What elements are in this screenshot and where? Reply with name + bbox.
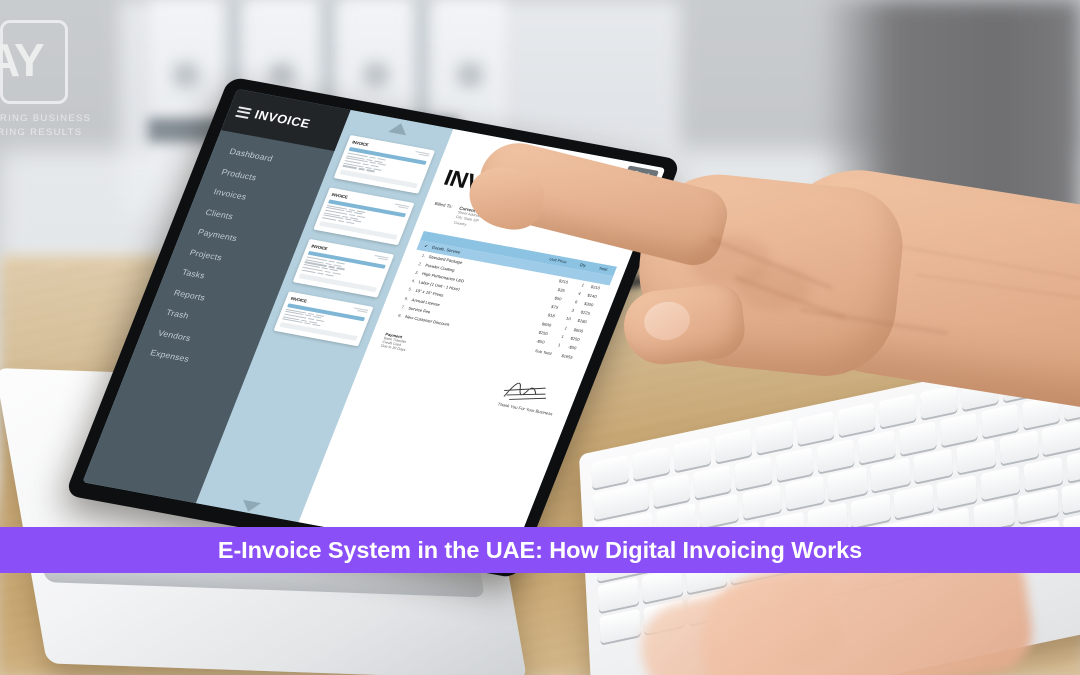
hamburger-menu-icon[interactable] bbox=[235, 106, 252, 119]
logo-frame: AY bbox=[0, 20, 68, 104]
thumbnail-title: INVOICE bbox=[290, 296, 308, 304]
check-icon: ✔ bbox=[424, 243, 429, 248]
sidebar-item-expenses[interactable]: Expenses bbox=[149, 348, 250, 375]
thumbnail-title: INVOICE bbox=[352, 140, 370, 148]
thumbnail-title: INVOICE bbox=[311, 244, 329, 252]
banner-title: E-Invoice System in the UAE: How Digital… bbox=[218, 537, 862, 564]
list-item[interactable]: INVOICE bbox=[274, 291, 374, 347]
logo-tagline: WERING BUSINESS VERING RESULTS bbox=[0, 112, 91, 140]
thumbnail-meta-lines bbox=[373, 255, 388, 260]
thumbnail-meta-lines bbox=[353, 307, 368, 312]
logo-tagline-line1: WERING BUSINESS bbox=[0, 112, 91, 126]
list-item[interactable]: INVOICE bbox=[314, 187, 415, 245]
scroll-up-arrow-icon[interactable] bbox=[388, 122, 410, 136]
thumbnail-title: INVOICE bbox=[331, 192, 349, 200]
list-item[interactable]: INVOICE bbox=[334, 135, 435, 193]
logo-mark: AY bbox=[0, 37, 43, 83]
pointing-hand bbox=[469, 170, 1080, 500]
thumbnail-meta-lines bbox=[394, 203, 409, 208]
screenshot-root: INVOICE Dashboard Products Invoices Clie… bbox=[0, 0, 1080, 675]
app-title: INVOICE bbox=[252, 108, 312, 131]
scroll-down-arrow-icon[interactable] bbox=[239, 500, 261, 514]
thumbnail-meta-lines bbox=[414, 151, 429, 156]
billed-to-label: Billed To: bbox=[429, 201, 454, 223]
list-item[interactable]: INVOICE bbox=[293, 239, 394, 297]
brand-logo: AY WERING BUSINESS VERING RESULTS bbox=[0, 20, 91, 140]
title-banner: E-Invoice System in the UAE: How Digital… bbox=[0, 527, 1080, 573]
payment-line-3: Due in 30 Days bbox=[380, 344, 406, 352]
logo-tagline-line2: VERING RESULTS bbox=[0, 126, 91, 140]
